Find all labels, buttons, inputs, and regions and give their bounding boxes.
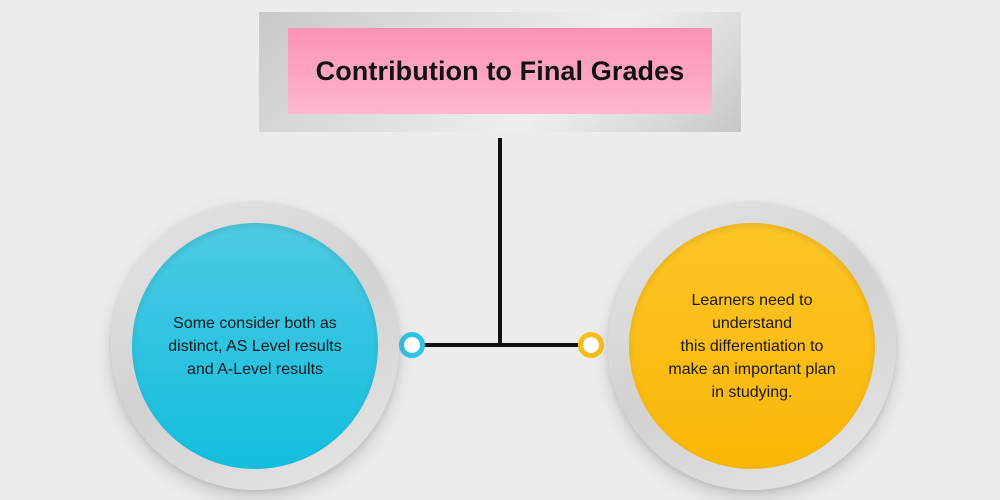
bubble-left-text: Some consider both as distinct, AS Level… bbox=[146, 312, 363, 381]
bubble-right[interactable]: Learners need to understand this differe… bbox=[608, 202, 896, 490]
bubble-right-fill: Learners need to understand this differe… bbox=[629, 223, 875, 469]
connector-node-left[interactable] bbox=[399, 332, 425, 358]
bubble-right-text: Learners need to understand this differe… bbox=[629, 289, 875, 404]
bubble-left[interactable]: Some consider both as distinct, AS Level… bbox=[111, 202, 399, 490]
diagram-canvas: Contribution to Final Grades Some consid… bbox=[0, 0, 1000, 500]
bubble-left-fill: Some consider both as distinct, AS Level… bbox=[132, 223, 378, 469]
title-banner-frame: Contribution to Final Grades bbox=[259, 12, 741, 132]
connector-vertical-line bbox=[498, 138, 502, 346]
connector-horizontal-line bbox=[412, 343, 592, 347]
connector-node-right[interactable] bbox=[578, 332, 604, 358]
title-banner-panel: Contribution to Final Grades bbox=[288, 28, 712, 114]
page-title: Contribution to Final Grades bbox=[316, 56, 685, 87]
